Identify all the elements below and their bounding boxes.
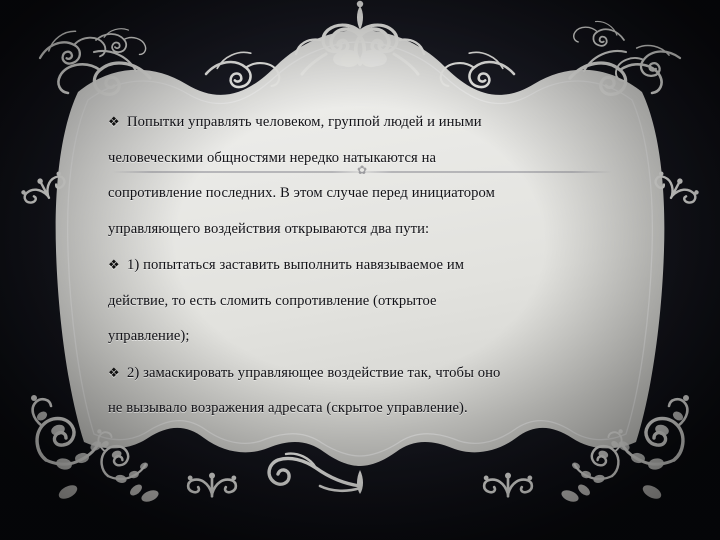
bullet-paragraph-3: ❖2) замаскировать управляющее воздействи…	[108, 355, 614, 427]
paragraph-3-line-2: не вызывало возражения адресата (скрытое…	[108, 391, 614, 427]
bullet-icon: ❖	[108, 247, 127, 283]
slide-text-content: ❖Попытки управлять человеком, группой лю…	[108, 104, 614, 427]
bullet-icon: ❖	[108, 104, 127, 140]
paragraph-3-line-1: 2) замаскировать управляющее воздействие…	[127, 365, 500, 381]
paragraph-2-line-3: управление);	[108, 319, 614, 355]
paragraph-1-line-3: сопротивление последних. В этом случае п…	[108, 176, 614, 212]
slide: ✿ ❖Попытки управлять человеком, группой …	[0, 0, 720, 540]
paragraph-2-line-2: действие, то есть сломить сопротивление …	[108, 284, 614, 320]
paragraph-1-line-4: управляющего воздействия открываются два…	[108, 212, 614, 248]
bullet-paragraph-2: ❖1) попытаться заставить выполнить навяз…	[108, 247, 614, 355]
bullet-paragraph-1: ❖Попытки управлять человеком, группой лю…	[108, 104, 614, 247]
paragraph-1-line-2: человеческими общностями нередко натыкаю…	[108, 141, 614, 177]
paragraph-2-line-1: 1) попытаться заставить выполнить навязы…	[127, 257, 464, 273]
paragraph-1-line-1: Попытки управлять человеком, группой люд…	[127, 114, 482, 130]
bullet-icon: ❖	[108, 355, 127, 391]
